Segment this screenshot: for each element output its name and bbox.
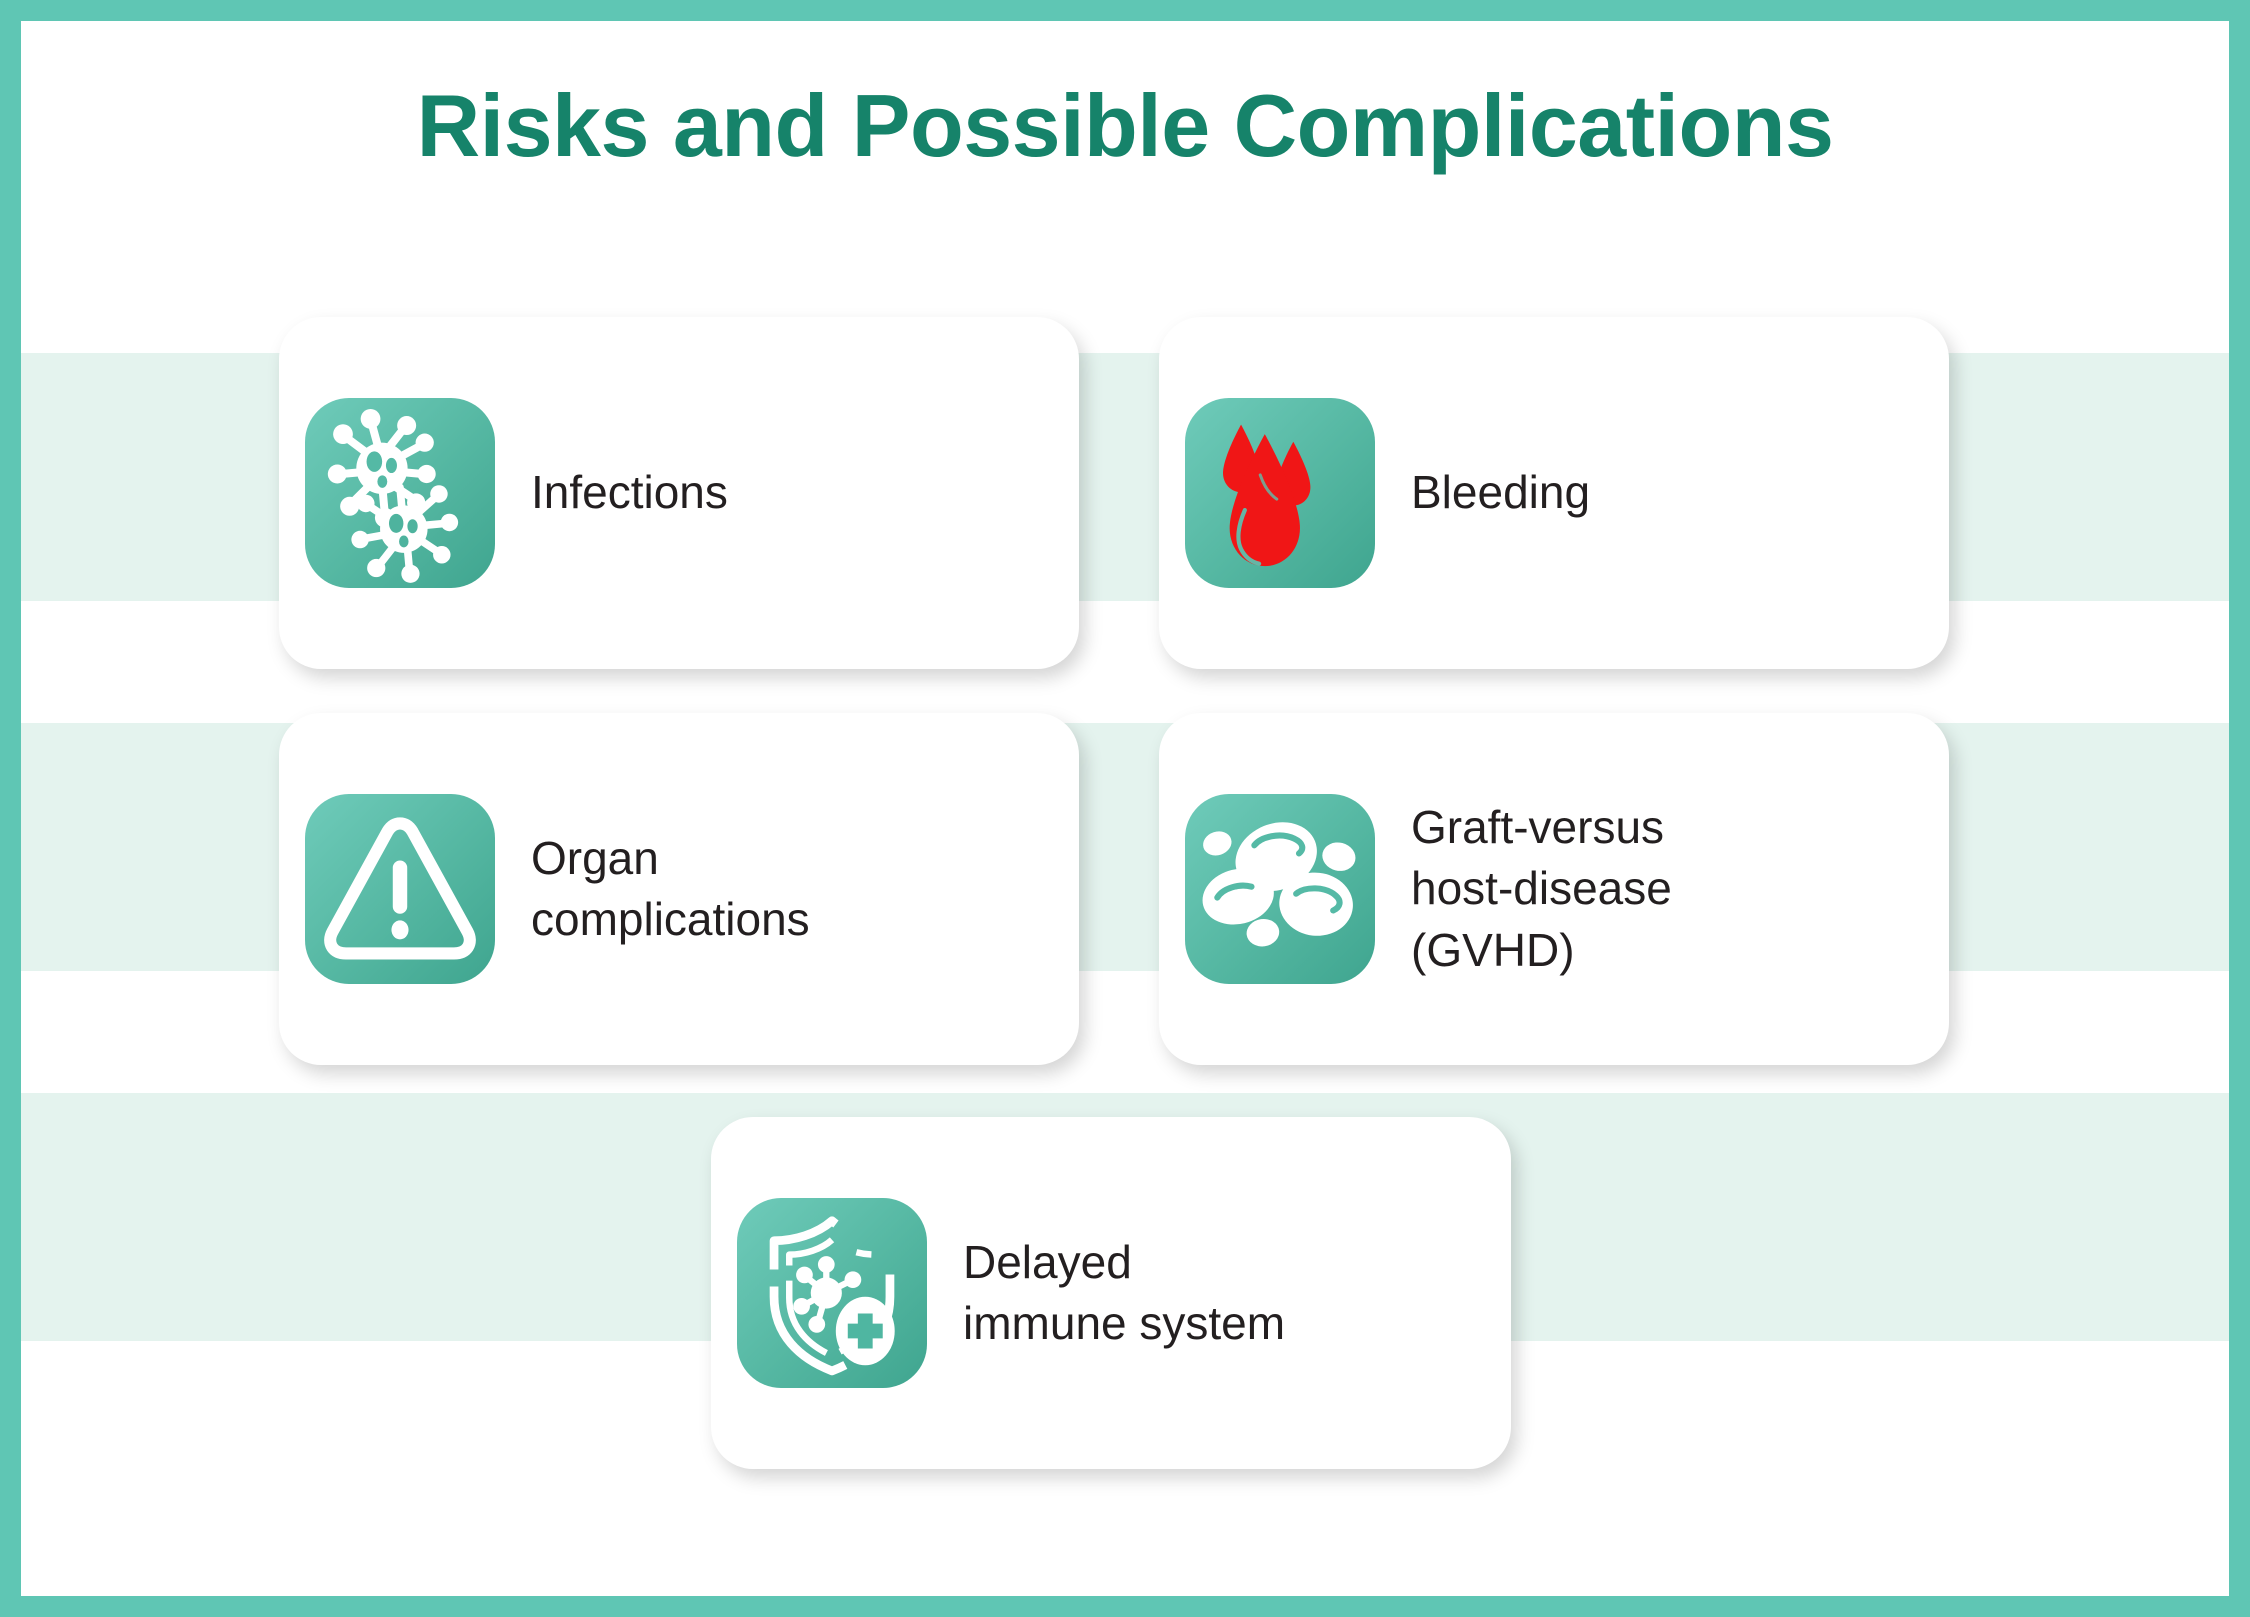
virus-germs-icon: [305, 398, 495, 588]
blood-cells-icon: [1185, 794, 1375, 984]
label-line-2: immune system: [963, 1297, 1285, 1349]
poster-frame: Risks and Possible Complications: [0, 0, 2250, 1617]
label-line-1: Delayed: [963, 1236, 1132, 1288]
label-line-1: Organ: [531, 832, 659, 884]
label-line-3: (GVHD): [1411, 924, 1575, 976]
risk-card-label: Graft-versushost-disease(GVHD): [1411, 797, 1925, 981]
label-line-1: Graft-versus: [1411, 801, 1664, 853]
risk-card-label: Bleeding: [1411, 462, 1925, 523]
risk-card-bleeding[interactable]: Bleeding: [1159, 317, 1949, 669]
blood-drops-icon: [1185, 398, 1375, 588]
shield-immunity-icon: [737, 1198, 927, 1388]
risk-card-delayed-immune-system[interactable]: Delayedimmune system: [711, 1117, 1511, 1469]
label-line-2: host-disease: [1411, 862, 1672, 914]
warning-triangle-icon: [305, 794, 495, 984]
risk-card-organ-complications[interactable]: Organcomplications: [279, 713, 1079, 1065]
page-title: Risks and Possible Complications: [21, 75, 2229, 177]
risk-card-infections[interactable]: Infections: [279, 317, 1079, 669]
risk-card-label: Infections: [531, 462, 1055, 523]
poster-page: Risks and Possible Complications: [21, 21, 2229, 1596]
label-line-2: complications: [531, 893, 810, 945]
risk-card-gvhd[interactable]: Graft-versushost-disease(GVHD): [1159, 713, 1949, 1065]
risk-card-label: Delayedimmune system: [963, 1232, 1487, 1354]
risk-card-label: Organcomplications: [531, 828, 1055, 950]
